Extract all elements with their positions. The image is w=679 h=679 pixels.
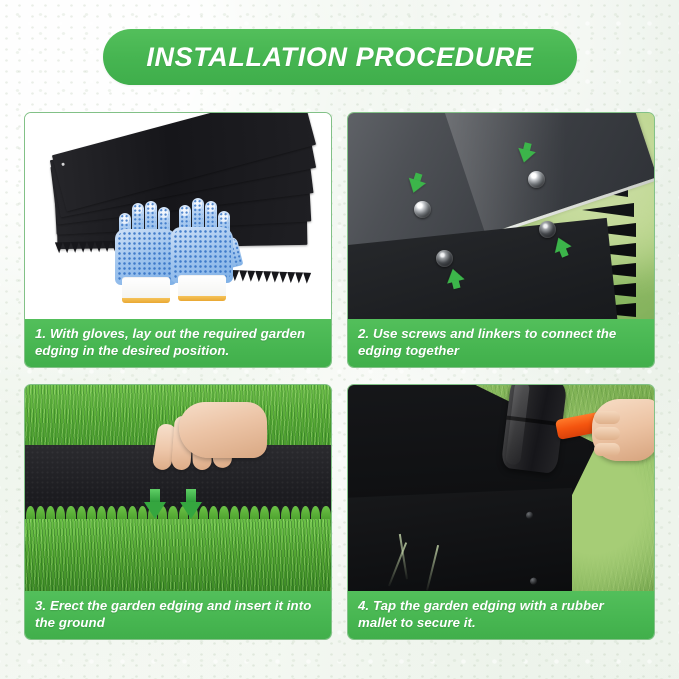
step-3-caption: 3. Erect the garden edging and insert it… xyxy=(25,591,331,639)
step-4-caption: 4. Tap the garden edging with a rubber m… xyxy=(348,591,654,639)
screw-2 xyxy=(528,171,545,188)
step-1-caption: 1. With gloves, lay out the required gar… xyxy=(25,319,331,367)
edging-bottom-teeth xyxy=(25,506,331,519)
step-1-image xyxy=(25,113,331,319)
step-2-caption: 2. Use screws and linkers to connect the… xyxy=(348,319,654,367)
grass-lower xyxy=(25,519,331,591)
installation-procedure-infographic: INSTALLATION PROCEDURE xyxy=(0,0,679,679)
lawn-scene xyxy=(25,385,331,591)
page-title-banner: INSTALLATION PROCEDURE xyxy=(103,29,577,85)
step-2-image xyxy=(348,113,654,319)
step-card-1: 1. With gloves, lay out the required gar… xyxy=(24,112,332,368)
edging-corner-front xyxy=(348,488,572,591)
lawn-scene-mallet xyxy=(348,385,654,591)
step-card-4: 4. Tap the garden edging with a rubber m… xyxy=(347,384,655,640)
step-4-image xyxy=(348,385,654,591)
screw-4 xyxy=(436,250,453,267)
screw-1 xyxy=(414,201,431,218)
work-glove-right xyxy=(171,197,233,301)
hand-gripping-mallet xyxy=(592,399,654,461)
screw-3 xyxy=(539,221,556,238)
hand-pressing xyxy=(149,390,267,482)
work-glove-left xyxy=(115,199,177,303)
step-card-2: 2. Use screws and linkers to connect the… xyxy=(347,112,655,368)
step-card-3: 3. Erect the garden edging and insert it… xyxy=(24,384,332,640)
steps-grid: 1. With gloves, lay out the required gar… xyxy=(24,112,655,655)
page-title: INSTALLATION PROCEDURE xyxy=(146,42,533,73)
step-3-image xyxy=(25,385,331,591)
